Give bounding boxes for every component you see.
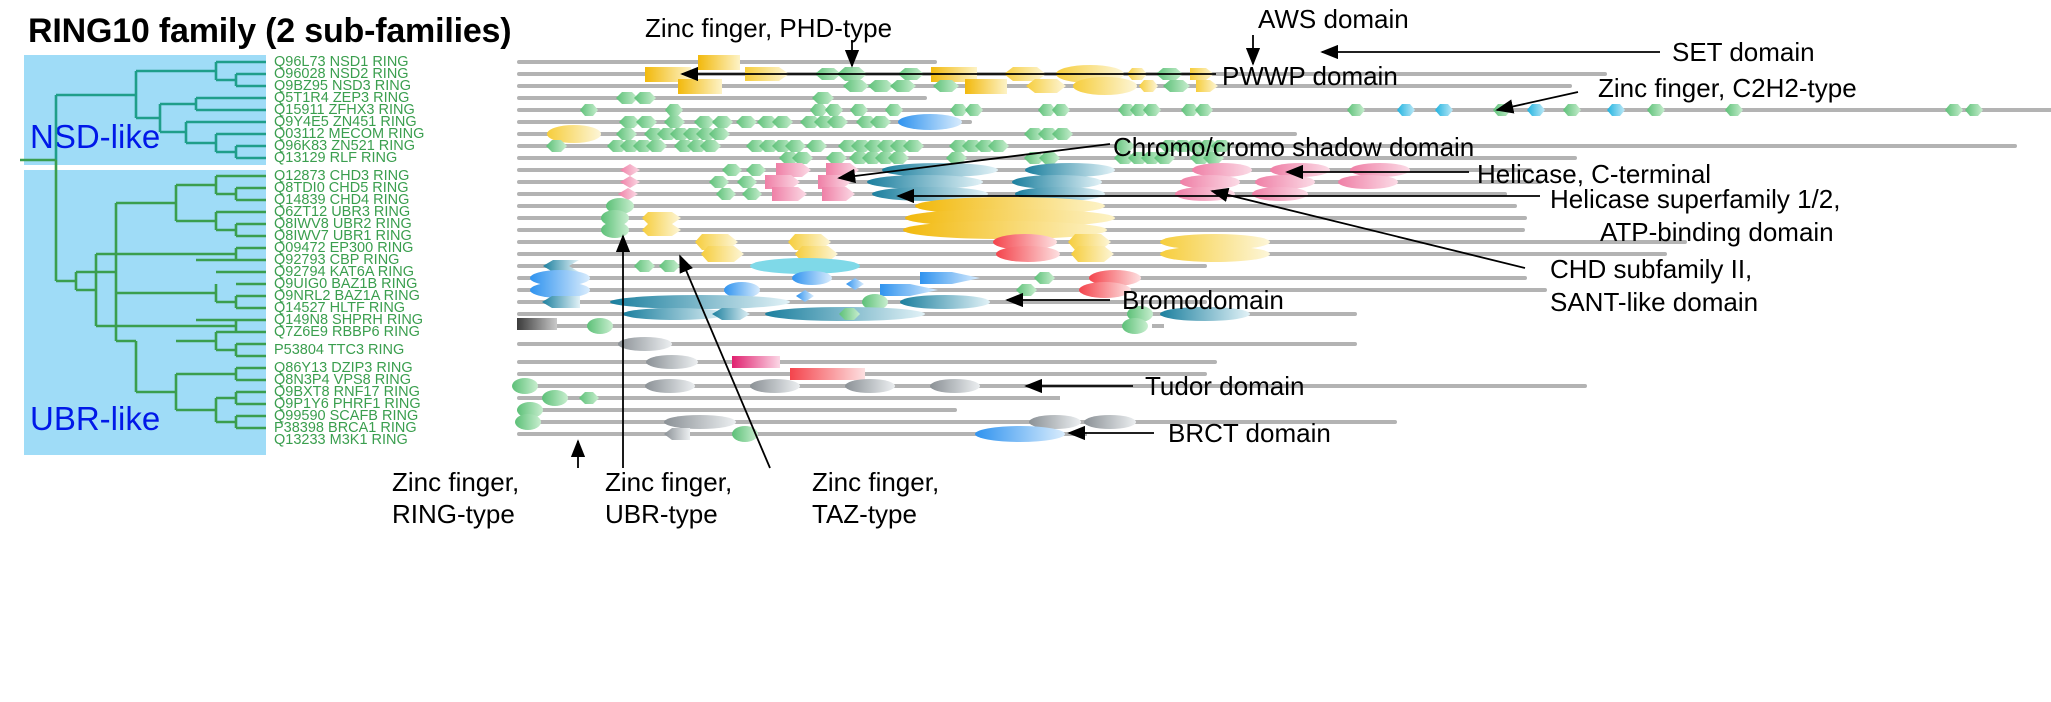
annotation-zinc-finger-phd: Zinc finger, PHD-type bbox=[645, 14, 892, 43]
annotation-tudor-domain: Tudor domain bbox=[1145, 372, 1304, 401]
annotation-zinc-finger-ubr-line1: Zinc finger, bbox=[605, 468, 732, 497]
annotation-pwwp-domain: PWWP domain bbox=[1222, 62, 1398, 91]
domains-nsd1 bbox=[698, 55, 740, 70]
annotation-bromodomain: Bromodomain bbox=[1122, 286, 1284, 315]
annotation-zinc-finger-ring-line1: Zinc finger, bbox=[392, 468, 519, 497]
domains-chd5 bbox=[620, 175, 1472, 189]
annotation-helicase-superfamily: Helicase superfamily 1/2, bbox=[1550, 185, 1840, 214]
annotation-zinc-finger-taz-line1: Zinc finger, bbox=[812, 468, 939, 497]
domains-chd3 bbox=[620, 163, 1485, 177]
annotation-helicase-atp-binding: ATP-binding domain bbox=[1600, 218, 1834, 247]
domain-architecture-panel bbox=[0, 0, 2051, 702]
figure-root: RING10 family (2 sub-families) NSD-like … bbox=[0, 0, 2051, 702]
annotation-chd-subfamily: CHD subfamily II, bbox=[1550, 255, 1752, 284]
domains-hltf bbox=[542, 294, 1012, 310]
annotation-aws-domain: AWS domain bbox=[1258, 5, 1409, 34]
domain-sant-zn451 bbox=[898, 114, 962, 130]
annotation-zinc-finger-taz-line2: TAZ-type bbox=[812, 500, 917, 529]
annotation-set-domain: SET domain bbox=[1672, 38, 1815, 67]
annotation-zinc-finger-ring-line2: RING-type bbox=[392, 500, 515, 529]
annotation-chromo-domain: Chromo/cromo shadow domain bbox=[1113, 133, 1474, 162]
annotation-brct-domain: BRCT domain bbox=[1168, 419, 1331, 448]
annotation-zinc-finger-ubr-line2: UBR-type bbox=[605, 500, 718, 529]
annotation-sant-like-domain: SANT-like domain bbox=[1550, 288, 1758, 317]
annotation-zinc-finger-c2h2: Zinc finger, C2H2-type bbox=[1598, 74, 1857, 103]
